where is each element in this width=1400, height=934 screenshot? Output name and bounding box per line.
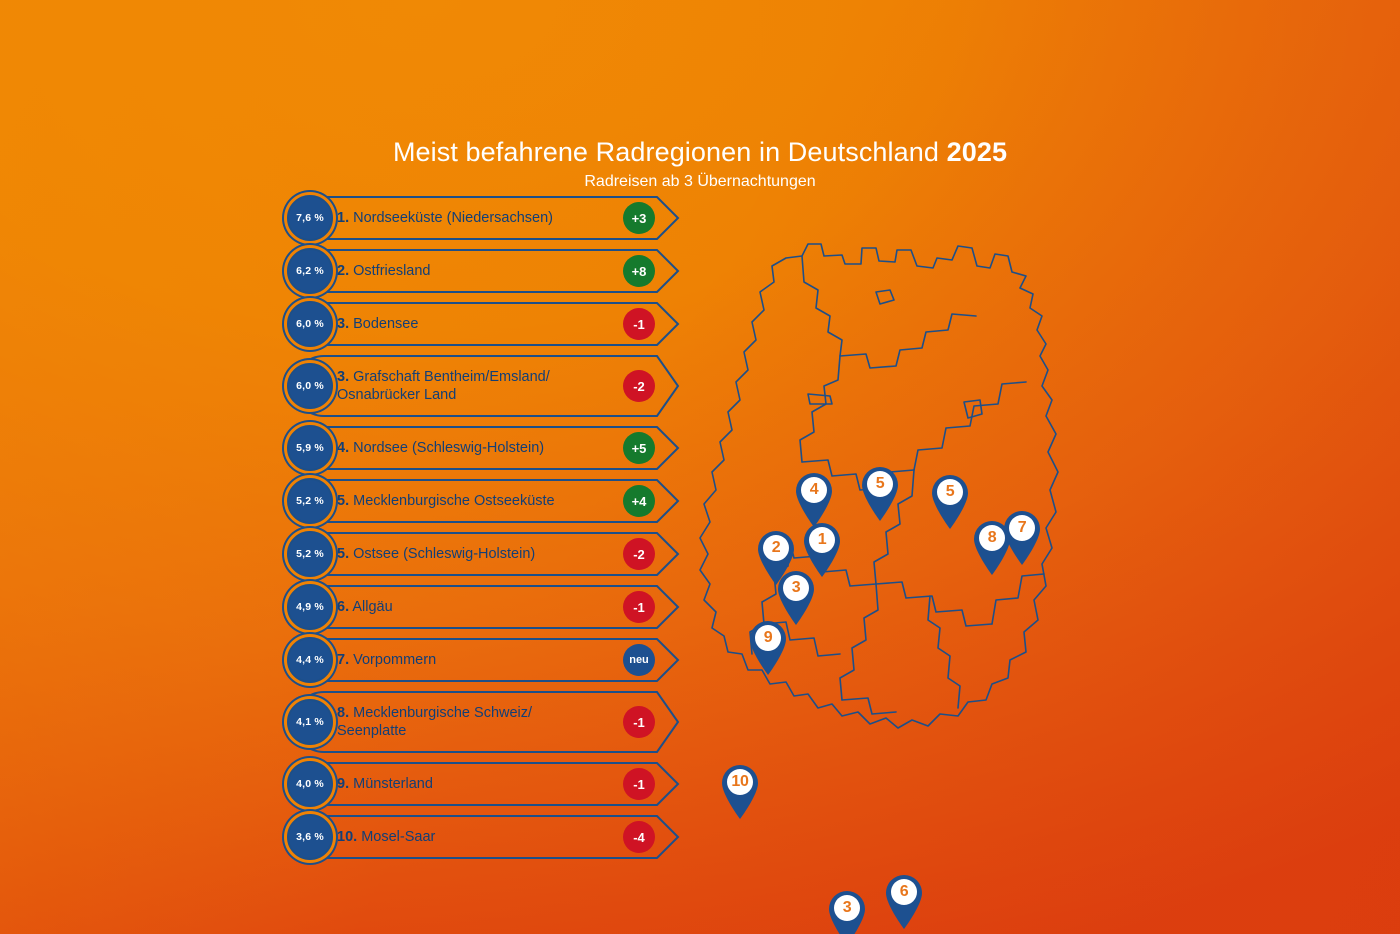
delta-badge: -1 bbox=[623, 308, 655, 340]
percentage-value: 4,4 % bbox=[296, 654, 324, 666]
delta-badge: -2 bbox=[623, 370, 655, 402]
percentage-value: 4,0 % bbox=[296, 778, 324, 790]
pin-number: 10 bbox=[731, 774, 748, 790]
ranking-row[interactable]: 7,6 %1. Nordseeküste (Niedersachsen)+3 bbox=[287, 196, 679, 240]
region-name-line1: Grafschaft Bentheim/Emsland/ bbox=[353, 369, 550, 385]
percentage-value: 6,2 % bbox=[296, 265, 324, 277]
region-label: 7. Vorpommern bbox=[337, 638, 597, 682]
rank-number: 10. bbox=[337, 829, 357, 845]
delta-value: +8 bbox=[632, 265, 647, 278]
map-pin-icon[interactable]: 3 bbox=[826, 890, 868, 934]
delta-badge: neu bbox=[623, 644, 655, 676]
delta-value: -2 bbox=[633, 380, 645, 393]
map-pin-icon[interactable]: 6 bbox=[883, 874, 925, 930]
pin-number: 7 bbox=[1018, 520, 1027, 536]
region-name-line2: Osnabrücker Land bbox=[337, 387, 456, 403]
rank-number: 5. bbox=[337, 546, 349, 562]
region-label: 5. Ostsee (Schleswig-Holstein) bbox=[337, 532, 597, 576]
delta-badge: -2 bbox=[623, 538, 655, 570]
percentage-bubble: 4,0 % bbox=[287, 761, 333, 807]
pin-number: 3 bbox=[792, 580, 801, 596]
percentage-value: 6,0 % bbox=[296, 380, 324, 392]
rank-number: 9. bbox=[337, 776, 349, 792]
delta-badge: +5 bbox=[623, 432, 655, 464]
region-name-line1: Münsterland bbox=[353, 776, 433, 792]
pin-number: 5 bbox=[946, 484, 955, 500]
pin-number: 8 bbox=[988, 530, 997, 546]
delta-value: -1 bbox=[633, 318, 645, 331]
percentage-bubble: 5,2 % bbox=[287, 478, 333, 524]
percentage-value: 4,9 % bbox=[296, 601, 324, 613]
ranking-row[interactable]: 5,9 %4. Nordsee (Schleswig-Holstein)+5 bbox=[287, 426, 679, 470]
delta-badge: -1 bbox=[623, 706, 655, 738]
region-name-line1: Mecklenburgische Ostseeküste bbox=[353, 493, 555, 509]
delta-value: +4 bbox=[632, 495, 647, 508]
percentage-value: 5,2 % bbox=[296, 495, 324, 507]
region-label: 3. Grafschaft Bentheim/Emsland/Osnabrück… bbox=[337, 355, 597, 417]
title-block: Meist befahrene Radregionen in Deutschla… bbox=[0, 136, 1400, 192]
region-label: 8. Mecklenburgische Schweiz/Seenplatte bbox=[337, 691, 597, 753]
map-pin-icon[interactable]: 5 bbox=[929, 474, 971, 530]
region-label: 9. Münsterland bbox=[337, 762, 597, 806]
pin-number: 9 bbox=[764, 630, 773, 646]
ranking-row[interactable]: 6,0 %3. Grafschaft Bentheim/Emsland/Osna… bbox=[287, 355, 679, 417]
ranking-row[interactable]: 5,2 %5. Ostsee (Schleswig-Holstein)-2 bbox=[287, 532, 679, 576]
delta-value: -1 bbox=[633, 716, 645, 729]
percentage-bubble: 4,9 % bbox=[287, 584, 333, 630]
rank-number: 7. bbox=[337, 652, 349, 668]
percentage-value: 4,1 % bbox=[296, 716, 324, 728]
region-name-line1: Nordseeküste (Niedersachsen) bbox=[353, 210, 553, 226]
region-name-line1: Ostsee (Schleswig-Holstein) bbox=[353, 546, 535, 562]
infographic-canvas: Meist befahrene Radregionen in Deutschla… bbox=[0, 0, 1400, 934]
region-label: 3. Bodensee bbox=[337, 302, 597, 346]
map-pin-icon[interactable]: 4 bbox=[793, 472, 835, 528]
percentage-bubble: 6,0 % bbox=[287, 363, 333, 409]
rank-number: 1. bbox=[337, 210, 349, 226]
rank-number: 4. bbox=[337, 440, 349, 456]
percentage-bubble: 5,2 % bbox=[287, 531, 333, 577]
page-title-main: Meist befahrene Radregionen in Deutschla… bbox=[393, 137, 947, 167]
region-label: 2. Ostfriesland bbox=[337, 249, 597, 293]
percentage-bubble: 7,6 % bbox=[287, 195, 333, 241]
ranking-row[interactable]: 4,1 %8. Mecklenburgische Schweiz/Seenpla… bbox=[287, 691, 679, 753]
map-pin-icon[interactable]: 5 bbox=[859, 466, 901, 522]
map-pin-icon[interactable]: 3 bbox=[775, 570, 817, 626]
map-pin-icon[interactable]: 9 bbox=[747, 620, 789, 676]
delta-value: -4 bbox=[633, 831, 645, 844]
percentage-value: 5,2 % bbox=[296, 548, 324, 560]
delta-badge: +8 bbox=[623, 255, 655, 287]
pin-number: 1 bbox=[818, 532, 827, 548]
delta-value: +5 bbox=[632, 442, 647, 455]
ranking-row[interactable]: 4,0 %9. Münsterland-1 bbox=[287, 762, 679, 806]
rank-number: 5. bbox=[337, 493, 349, 509]
percentage-value: 7,6 % bbox=[296, 212, 324, 224]
region-label: 10. Mosel-Saar bbox=[337, 815, 597, 859]
delta-value: -2 bbox=[633, 548, 645, 561]
map-pin-icon[interactable]: 8 bbox=[971, 520, 1013, 576]
ranking-row[interactable]: 6,0 %3. Bodensee-1 bbox=[287, 302, 679, 346]
rank-number: 3. bbox=[337, 369, 349, 385]
region-label: 5. Mecklenburgische Ostseeküste bbox=[337, 479, 597, 523]
pin-number: 5 bbox=[876, 476, 885, 492]
ranking-row[interactable]: 4,9 %6. Allgäu-1 bbox=[287, 585, 679, 629]
percentage-bubble: 4,4 % bbox=[287, 637, 333, 683]
pin-number: 4 bbox=[810, 482, 819, 498]
percentage-bubble: 5,9 % bbox=[287, 425, 333, 471]
region-label: 1. Nordseeküste (Niedersachsen) bbox=[337, 196, 597, 240]
region-name-line1: Bodensee bbox=[353, 316, 418, 332]
map-detail-shapes bbox=[808, 290, 982, 418]
delta-value: -1 bbox=[633, 778, 645, 791]
map-pin-icon[interactable]: 10 bbox=[719, 764, 761, 820]
rank-number: 8. bbox=[337, 705, 349, 721]
percentage-bubble: 6,0 % bbox=[287, 301, 333, 347]
percentage-value: 3,6 % bbox=[296, 831, 324, 843]
delta-value: neu bbox=[629, 655, 649, 666]
delta-value: -1 bbox=[633, 601, 645, 614]
rank-number: 3. bbox=[337, 316, 349, 332]
delta-badge: +3 bbox=[623, 202, 655, 234]
rank-number: 2. bbox=[337, 263, 349, 279]
region-name-line1: Ostfriesland bbox=[353, 263, 430, 279]
pin-number: 6 bbox=[900, 884, 909, 900]
ranking-row[interactable]: 6,2 %2. Ostfriesland+8 bbox=[287, 249, 679, 293]
pin-number: 2 bbox=[772, 540, 781, 556]
region-name-line2: Seenplatte bbox=[337, 723, 406, 739]
germany-map: 4557812391036 bbox=[690, 228, 1090, 748]
percentage-bubble: 3,6 % bbox=[287, 814, 333, 860]
region-name-line1: Vorpommern bbox=[353, 652, 436, 668]
delta-badge: -1 bbox=[623, 768, 655, 800]
delta-badge: +4 bbox=[623, 485, 655, 517]
ranking-list: 7,6 %1. Nordseeküste (Niedersachsen)+36,… bbox=[287, 196, 679, 868]
percentage-value: 6,0 % bbox=[296, 318, 324, 330]
percentage-bubble: 4,1 % bbox=[287, 699, 333, 745]
region-label: 4. Nordsee (Schleswig-Holstein) bbox=[337, 426, 597, 470]
region-name-line1: Nordsee (Schleswig-Holstein) bbox=[353, 440, 544, 456]
region-name-line1: Allgäu bbox=[352, 599, 392, 615]
delta-badge: -4 bbox=[623, 821, 655, 853]
ranking-row[interactable]: 3,6 %10. Mosel-Saar-4 bbox=[287, 815, 679, 859]
percentage-value: 5,9 % bbox=[296, 442, 324, 454]
region-name-line1: Mosel-Saar bbox=[361, 829, 435, 845]
percentage-bubble: 6,2 % bbox=[287, 248, 333, 294]
page-title-year: 2025 bbox=[947, 137, 1007, 167]
rank-number: 6. bbox=[337, 599, 349, 615]
delta-value: +3 bbox=[632, 212, 647, 225]
region-label: 6. Allgäu bbox=[337, 585, 597, 629]
ranking-row[interactable]: 5,2 %5. Mecklenburgische Ostseeküste+4 bbox=[287, 479, 679, 523]
delta-badge: -1 bbox=[623, 591, 655, 623]
page-subtitle: Radreisen ab 3 Übernachtungen bbox=[0, 172, 1400, 192]
region-name-line1: Mecklenburgische Schweiz/ bbox=[353, 705, 532, 721]
ranking-row[interactable]: 4,4 %7. Vorpommernneu bbox=[287, 638, 679, 682]
pin-number: 3 bbox=[843, 900, 852, 916]
page-title: Meist befahrene Radregionen in Deutschla… bbox=[0, 136, 1400, 168]
